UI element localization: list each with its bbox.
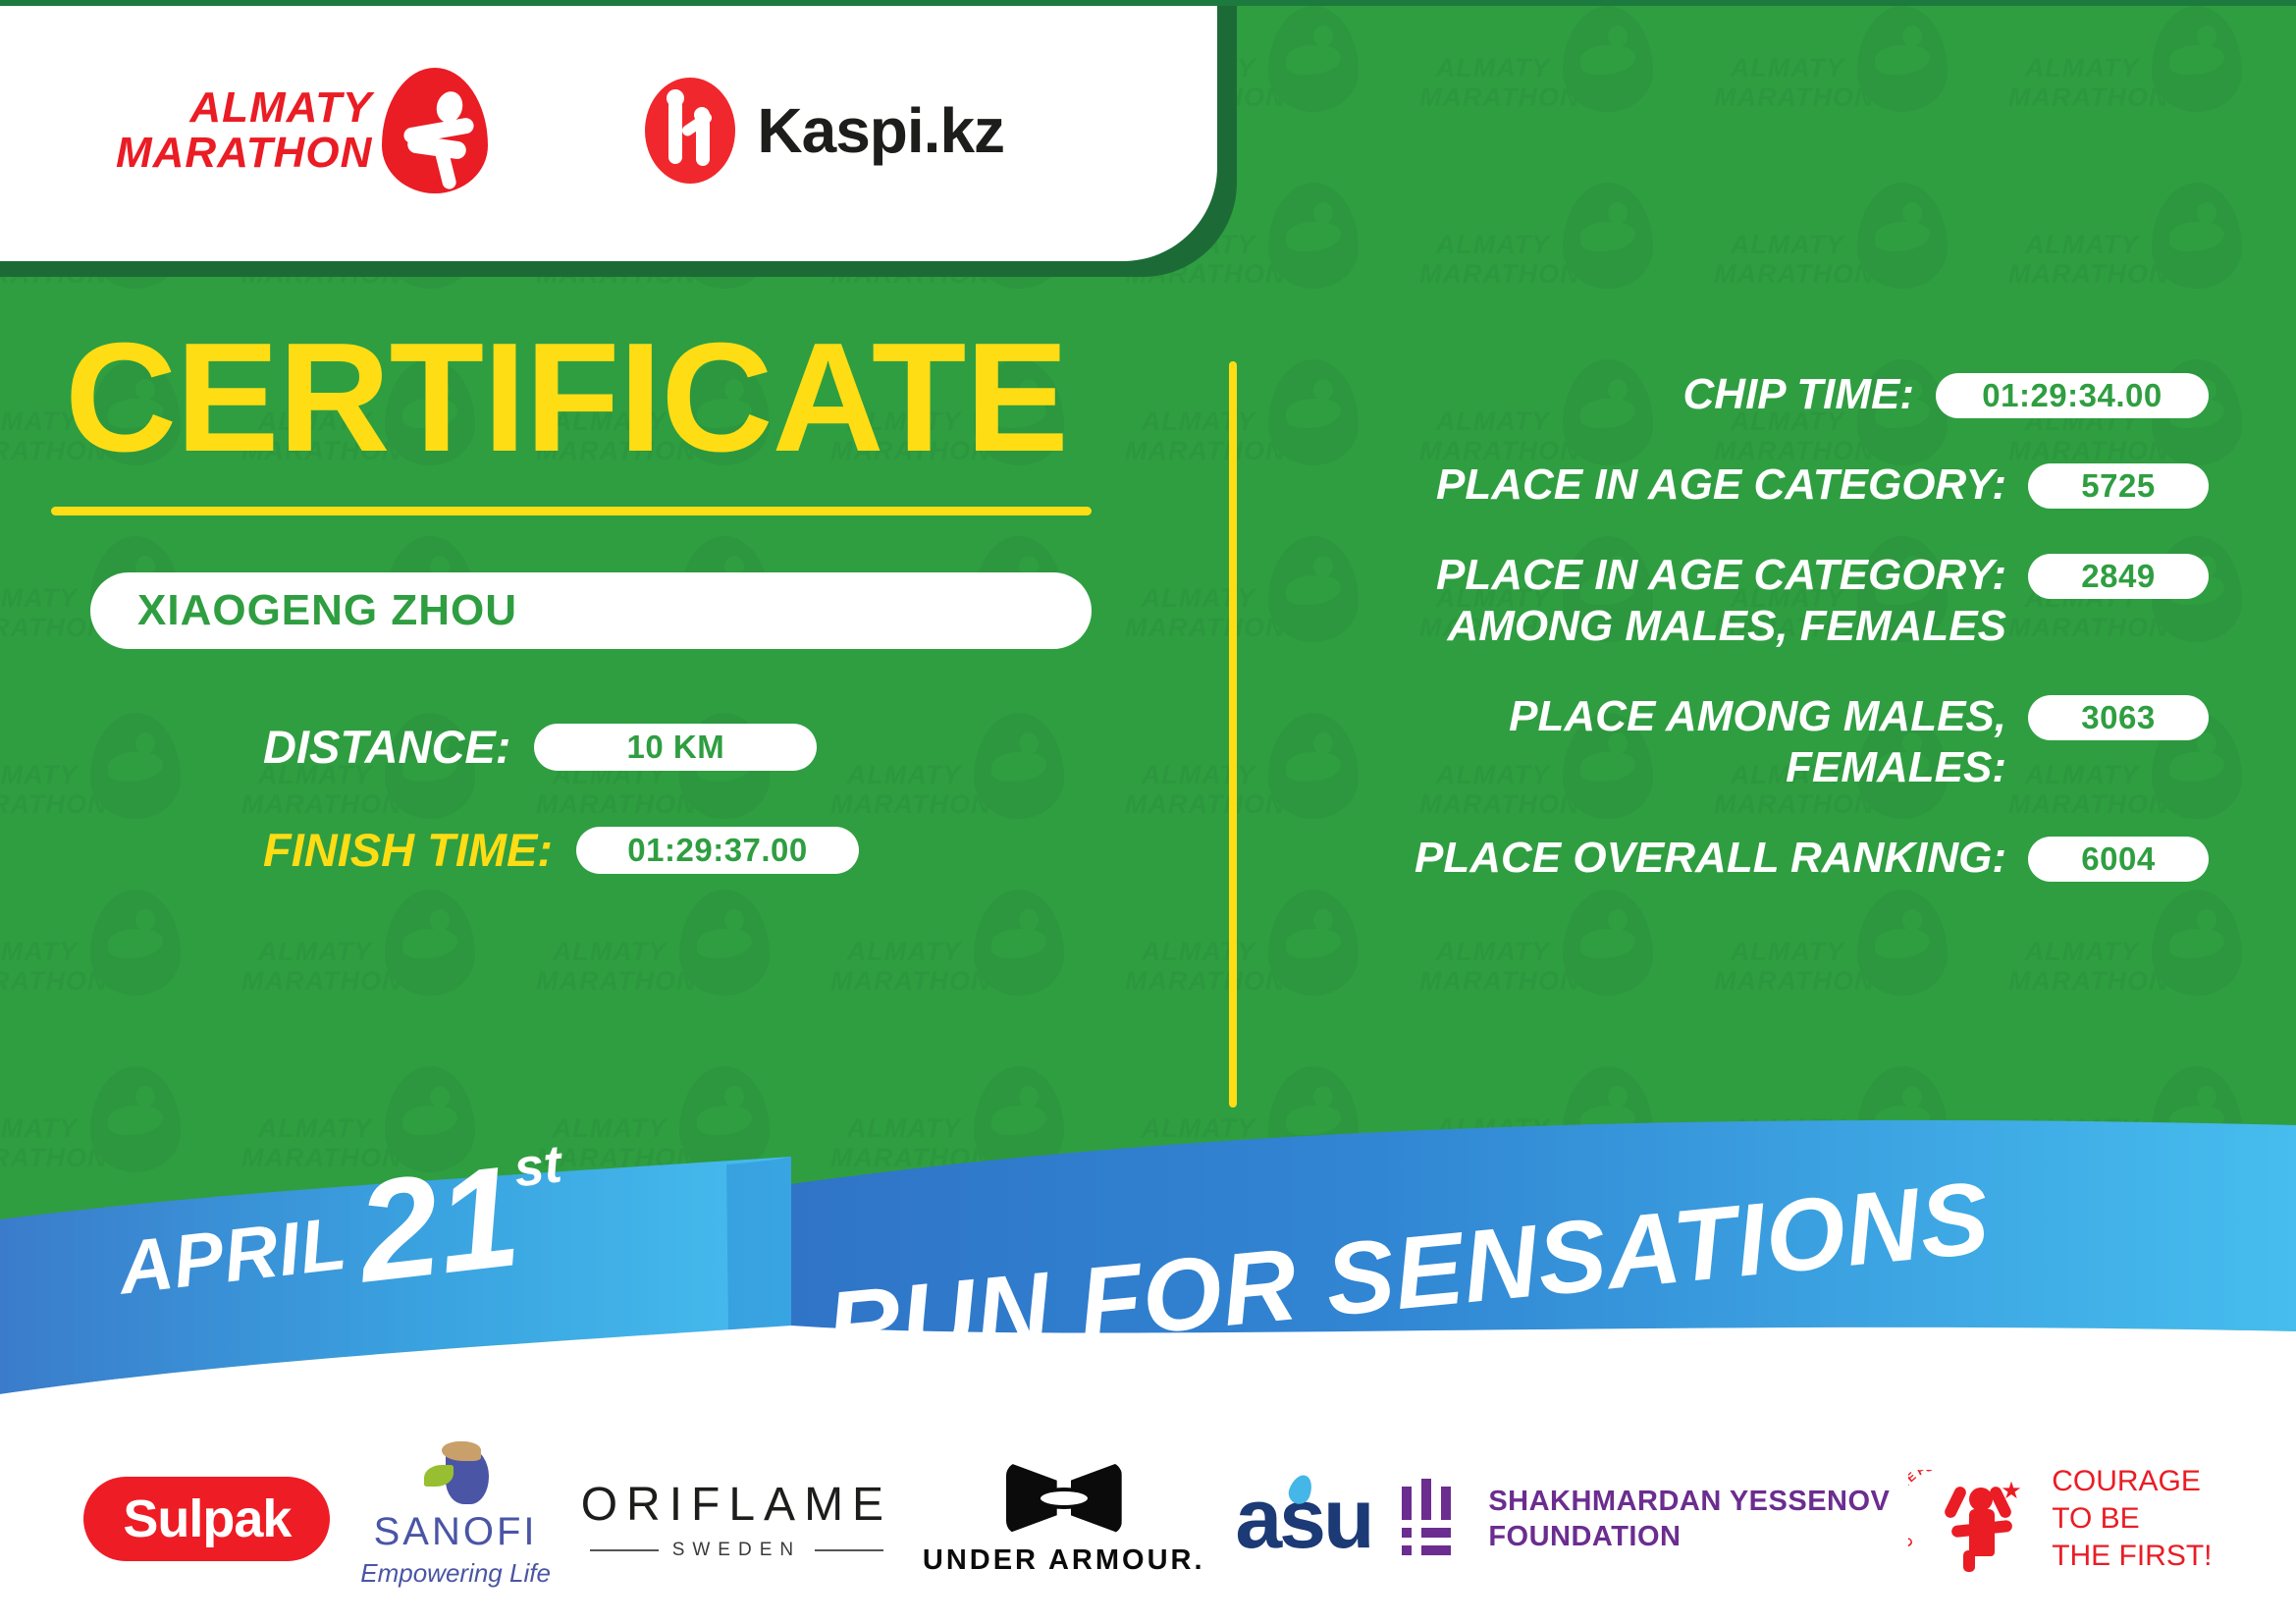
almaty-logo-line1: ALMATY: [116, 85, 372, 131]
watermark-tile: ALMATYMARATHON: [1414, 177, 1708, 353]
oriflame-logo-text: ORIFLAME: [581, 1478, 892, 1532]
sanofi-mark-icon: [414, 1449, 497, 1504]
place-overall-ranking-label: PLACE OVERALL RANKING:: [1266, 833, 2028, 884]
courage-line3: THE FIRST!: [2052, 1538, 2212, 1575]
ribbon-day-suffix: st: [510, 1133, 564, 1199]
yessenov-line1: SHAKHMARDAN YESSENOV: [1488, 1484, 1890, 1519]
kaspi-logo: Kaspi.kz: [645, 78, 1004, 184]
place-age-category-value-pill: 5725: [2028, 463, 2209, 509]
watermark-text: ALMATYMARATHON: [1419, 937, 1567, 996]
sponsor-oriflame: ORIFLAME SWEDEN: [581, 1478, 892, 1561]
watermark-tile: ALMATYMARATHON: [0, 884, 236, 1060]
top-accent-rule: [0, 0, 2296, 6]
sponsor-asu: asu: [1235, 1471, 1371, 1568]
sponsor-sulpak: Sulpak: [83, 1477, 330, 1561]
courage-line2: TO BE: [2052, 1500, 2212, 1538]
sponsor-under-armour: UNDER ARMOUR.: [923, 1462, 1205, 1577]
courage-line1: COURAGE: [2052, 1463, 2212, 1500]
watermark-text: ALMATYMARATHON: [241, 937, 389, 996]
place-among-males-females-line2: FEMALES:: [1266, 742, 2006, 793]
place-age-category-label: PLACE IN AGE CATEGORY:: [1266, 460, 2028, 511]
chip-time-label: CHIP TIME:: [1266, 369, 1936, 420]
ribbon-month: APRIL: [115, 1201, 351, 1312]
stat-row-place-among-males-females: PLACE AMONG MALES, FEMALES: 3063: [1266, 691, 2209, 793]
watermark-text: ALMATYMARATHON: [830, 937, 978, 996]
sponsor-bar: Sulpak SANOFI Empowering Life ORIFLAME S…: [0, 1414, 2296, 1624]
finish-time-label: FINISH TIME:: [263, 823, 553, 877]
distance-value: 10 KM: [627, 729, 725, 766]
watermark-text: ALMATYMARATHON: [0, 937, 94, 996]
watermark-text: ALMATYMARATHON: [536, 937, 683, 996]
place-age-category-among-value: 2849: [2081, 558, 2155, 595]
finish-time-value: 01:29:37.00: [627, 832, 807, 869]
watermark-tile: ALMATYMARATHON: [236, 884, 530, 1060]
certificate-stats-column: CHIP TIME: 01:29:34.00 PLACE IN AGE CATE…: [1266, 369, 2209, 923]
watermark-tile: ALMATYMARATHON: [1414, 0, 1708, 177]
yessenov-mark-icon: [1402, 1479, 1467, 1559]
watermark-text: ALMATYMARATHON: [1419, 230, 1567, 289]
almaty-marathon-logo-text: ALMATY MARATHON: [116, 85, 372, 176]
watermark-text: ALMATYMARATHON: [2008, 230, 2156, 289]
yessenov-logo-text: SHAKHMARDAN YESSENOV FOUNDATION: [1488, 1484, 1890, 1554]
stat-row-place-age-category: PLACE IN AGE CATEGORY: 5725: [1266, 460, 2209, 511]
distance-value-pill: 10 KM: [534, 724, 817, 771]
watermark-tile: ALMATYMARATHON: [825, 884, 1119, 1060]
kaspi-logo-text: Kaspi.kz: [757, 94, 1004, 167]
yessenov-line2: FOUNDATION: [1488, 1519, 1890, 1554]
watermark-tile: ALMATYMARATHON: [2002, 0, 2296, 177]
place-age-category-value: 5725: [2081, 467, 2155, 505]
watermark-text: ALMATYMARATHON: [1125, 937, 1272, 996]
sanofi-logo-text: SANOFI: [374, 1510, 538, 1554]
place-age-category-among-value-pill: 2849: [2028, 554, 2209, 599]
certificate-left-column: CERTIFICATE XIAOGENG ZHOU DISTANCE: 10 K…: [0, 324, 1207, 877]
watermark-tile: ALMATYMARATHON: [1708, 177, 2002, 353]
finish-time-row: FINISH TIME: 01:29:37.00: [263, 823, 1207, 877]
distance-row: DISTANCE: 10 KM: [263, 720, 1207, 774]
watermark-text: ALMATYMARATHON: [1714, 53, 1861, 112]
stat-row-place-overall-ranking: PLACE OVERALL RANKING: 6004: [1266, 833, 2209, 884]
place-among-males-females-line1: PLACE AMONG MALES,: [1266, 691, 2006, 742]
courage-logo-text: COURAGE TO BE THE FIRST!: [2052, 1463, 2212, 1575]
chip-time-value-pill: 01:29:34.00: [1936, 373, 2209, 418]
under-armour-logo-text: UNDER ARMOUR.: [923, 1544, 1205, 1577]
kaspi-people-icon: [645, 78, 735, 184]
sanofi-tagline: Empowering Life: [360, 1558, 551, 1589]
sponsor-sanofi: SANOFI Empowering Life: [360, 1449, 551, 1589]
watermark-text: ALMATYMARATHON: [1714, 937, 1861, 996]
place-age-category-among-label: PLACE IN AGE CATEGORY: AMONG MALES, FEMA…: [1266, 550, 2028, 652]
watermark-text: ALMATYMARATHON: [2008, 937, 2156, 996]
place-age-category-among-line1: PLACE IN AGE CATEGORY:: [1266, 550, 2006, 601]
vertical-divider: [1229, 361, 1237, 1108]
watermark-text: ALMATYMARATHON: [1419, 53, 1567, 112]
ribbon-day: 21: [352, 1157, 524, 1292]
place-among-males-females-value-pill: 3063: [2028, 695, 2209, 740]
place-overall-ranking-value-pill: 6004: [2028, 837, 2209, 882]
runner-drop-icon: [382, 68, 488, 193]
athlete-name-value: XIAOGENG ZHOU: [137, 586, 517, 635]
distance-label: DISTANCE:: [263, 720, 510, 774]
watermark-text: ALMATYMARATHON: [2008, 53, 2156, 112]
header-panel: ALMATY MARATHON Kaspi.kz: [0, 0, 1217, 261]
under-armour-icon: [1006, 1462, 1122, 1535]
event-ribbon: APRIL 21 st RUN FOR SENSATIONS: [0, 1100, 2296, 1424]
sponsor-yessenov-foundation: SHAKHMARDAN YESSENOV FOUNDATION: [1402, 1479, 1890, 1559]
place-among-males-females-label: PLACE AMONG MALES, FEMALES:: [1266, 691, 2028, 793]
watermark-tile: ALMATYMARATHON: [2002, 177, 2296, 353]
sulpak-logo: Sulpak: [83, 1477, 330, 1561]
chip-time-value: 01:29:34.00: [1982, 377, 2162, 414]
athlete-name-field: XIAOGENG ZHOU: [90, 572, 1092, 649]
place-age-category-among-line2: AMONG MALES, FEMALES: [1266, 601, 2006, 652]
watermark-tile: ALMATYMARATHON: [1708, 0, 2002, 177]
watermark-text: ALMATYMARATHON: [1714, 230, 1861, 289]
stat-row-place-age-category-among: PLACE IN AGE CATEGORY: AMONG MALES, FEMA…: [1266, 550, 2209, 652]
place-among-males-females-value: 3063: [2081, 699, 2155, 736]
oriflame-sub: SWEDEN: [590, 1540, 883, 1561]
watermark-tile: ALMATYMARATHON: [530, 884, 825, 1060]
finish-time-value-pill: 01:29:37.00: [576, 827, 859, 874]
sponsor-courage-fund: CORPORATE FUND ★ COURAGE TO BE THE FIRST…: [1920, 1463, 2212, 1575]
almaty-logo-line2: MARATHON: [116, 131, 372, 176]
place-overall-ranking-value: 6004: [2081, 840, 2155, 878]
page-title: CERTIFICATE: [0, 324, 1207, 471]
title-underline: [51, 507, 1092, 515]
almaty-marathon-logo: ALMATY MARATHON: [116, 68, 488, 193]
stat-row-chip-time: CHIP TIME: 01:29:34.00: [1266, 369, 2209, 420]
asu-logo-text: asu: [1235, 1471, 1371, 1568]
oriflame-sub-text: SWEDEN: [672, 1540, 801, 1561]
courage-figure-icon: CORPORATE FUND ★: [1920, 1474, 2038, 1564]
